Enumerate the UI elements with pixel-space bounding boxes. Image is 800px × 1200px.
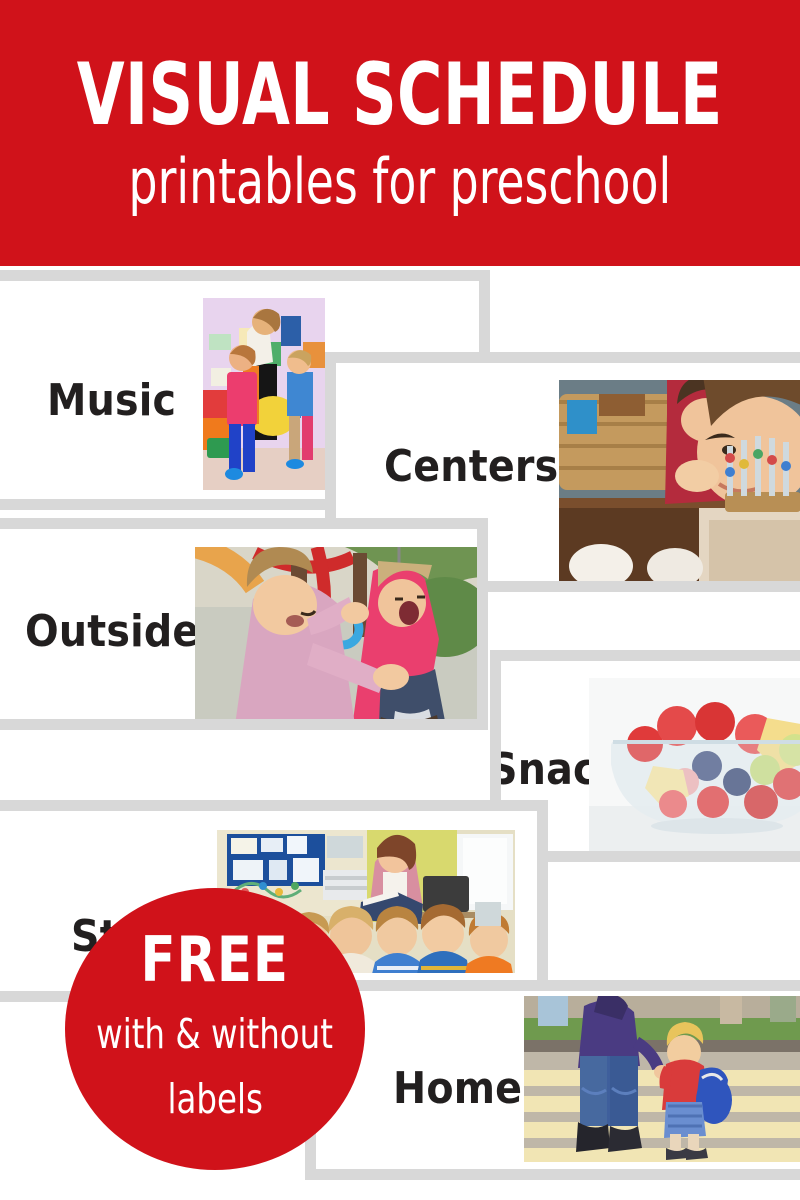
free-badge-headline: FREE: [141, 929, 289, 991]
free-badge[interactable]: FREE with & without labels: [65, 888, 365, 1170]
schedule-card-label: Outside: [25, 606, 199, 657]
header-banner: VISUAL SCHEDULE printables for preschool: [0, 0, 800, 266]
schedule-card-outside[interactable]: Outside: [0, 518, 488, 730]
snack-fruit-bowl-photo: [589, 678, 800, 856]
home-walking-photo: [524, 996, 800, 1162]
schedule-card-label: Home: [393, 1063, 522, 1114]
page-subtitle: printables for preschool: [129, 151, 672, 213]
outside-playground-photo: [195, 547, 485, 725]
pinterest-graphic: VISUAL SCHEDULE printables for preschool…: [0, 0, 800, 1200]
music-classroom-photo: [203, 298, 325, 490]
schedule-card-label: Centers: [384, 441, 558, 492]
free-badge-line-2: labels: [167, 1070, 262, 1129]
schedule-card-home[interactable]: Home: [305, 980, 800, 1180]
page-title: VISUAL SCHEDULE: [77, 53, 723, 137]
centers-activity-photo: [559, 380, 800, 586]
free-badge-line-1: with & without: [97, 1005, 334, 1064]
schedule-card-label: Music: [47, 375, 176, 426]
